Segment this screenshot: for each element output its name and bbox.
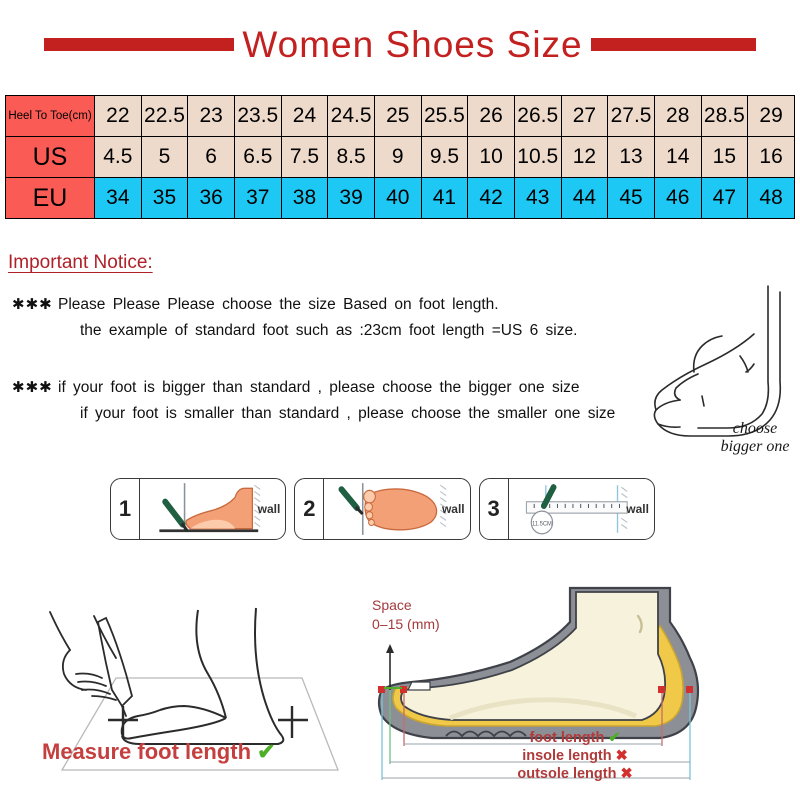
cell-r2-c13: 47 — [701, 178, 748, 219]
notice-paragraph-2: ✱✱✱if your foot is bigger than standard … — [12, 375, 615, 427]
cell-r2-c4: 38 — [281, 178, 328, 219]
choose-bigger-line-2: bigger one — [690, 438, 800, 456]
cell-r1-c2: 6 — [188, 137, 235, 178]
cell-r1-c14: 16 — [748, 137, 795, 178]
cell-r0-c0: 22 — [95, 96, 142, 137]
cell-r2-c10: 44 — [561, 178, 608, 219]
outsole-length-label: outsole length ✖ — [360, 766, 790, 782]
outsole-length-cross-icon: ✖ — [620, 766, 632, 782]
space-label-line-1: Space — [372, 596, 440, 615]
step-number-2: 2 — [295, 479, 324, 539]
cell-r0-c5: 24.5 — [328, 96, 375, 137]
table-row: Heel To Toe(cm)2222.52323.52424.52525.52… — [6, 96, 795, 137]
table-row: EU343536373839404142434445464748 — [6, 178, 795, 219]
cell-r0-c11: 27.5 — [608, 96, 655, 137]
cell-r1-c4: 7.5 — [281, 137, 328, 178]
step-art-1: wall — [140, 479, 285, 539]
cell-r2-c3: 37 — [234, 178, 281, 219]
cell-r2-c5: 39 — [328, 178, 375, 219]
step-panel-3: 3 11.5CM — [479, 478, 655, 540]
notice-lines-2: if your foot is bigger than standard , p… — [58, 375, 615, 427]
cell-r1-c10: 12 — [561, 137, 608, 178]
step-2-wall-label: wall — [442, 502, 465, 516]
cell-r0-c12: 28 — [654, 96, 701, 137]
cell-r0-c4: 24 — [281, 96, 328, 137]
step-1-wall-label: wall — [258, 502, 281, 516]
space-label-line-2: 0–15 (mm) — [372, 615, 440, 634]
foot-length-label: foot length ✔ — [360, 730, 790, 746]
notice-2-line-2: if your foot is smaller than standard , … — [58, 405, 615, 422]
cell-r2-c9: 43 — [514, 178, 561, 219]
notice-1-line-1: Please Please Please choose the size Bas… — [58, 296, 499, 313]
measure-foot-length-caption: Measure foot length ✔ — [42, 739, 276, 765]
cell-r0-c7: 25.5 — [421, 96, 468, 137]
cell-r1-c11: 13 — [608, 137, 655, 178]
cell-r1-c6: 9 — [374, 137, 421, 178]
step-number-3: 3 — [480, 479, 509, 539]
cell-r1-c8: 10 — [468, 137, 515, 178]
cell-r2-c12: 46 — [654, 178, 701, 219]
step-number-1: 1 — [111, 479, 140, 539]
notice-stars-2: ✱✱✱ — [12, 375, 58, 401]
cell-r1-c3: 6.5 — [234, 137, 281, 178]
title-rule-right — [591, 38, 756, 51]
measure-caption-text: Measure foot length — [42, 739, 251, 764]
table-row: US4.5566.57.58.599.51010.51213141516 — [6, 137, 795, 178]
choose-bigger-line-1: choose — [690, 420, 800, 438]
cell-r2-c1: 35 — [141, 178, 188, 219]
cell-r0-c2: 23 — [188, 96, 235, 137]
step-art-2: wall — [324, 479, 469, 539]
cell-r0-c3: 23.5 — [234, 96, 281, 137]
row-label-0: Heel To Toe(cm) — [6, 96, 95, 137]
cell-r0-c6: 25 — [374, 96, 421, 137]
step-panel-1: 1 wall — [110, 478, 286, 540]
cell-r2-c6: 40 — [374, 178, 421, 219]
foot-length-tick-icon: ✔ — [608, 730, 620, 746]
cell-r2-c2: 36 — [188, 178, 235, 219]
measure-caption-tick-icon: ✔ — [257, 739, 275, 764]
shoe-cross-section-panel: Space 0–15 (mm) foot length ✔ insole len… — [360, 578, 790, 796]
foot-length-text: foot length — [529, 730, 604, 746]
insole-length-cross-icon: ✖ — [616, 748, 628, 764]
cell-r1-c12: 14 — [654, 137, 701, 178]
measurement-steps-strip: 1 wall 2 — [110, 478, 655, 540]
cell-r1-c7: 9.5 — [421, 137, 468, 178]
cell-r2-c14: 48 — [748, 178, 795, 219]
space-measurement-label: Space 0–15 (mm) — [372, 596, 440, 634]
cell-r0-c10: 27 — [561, 96, 608, 137]
cell-r0-c14: 29 — [748, 96, 795, 137]
cell-r2-c8: 42 — [468, 178, 515, 219]
outsole-length-text: outsole length — [517, 766, 616, 782]
cell-r1-c0: 4.5 — [95, 137, 142, 178]
row-label-2: EU — [6, 178, 95, 219]
cell-r1-c9: 10.5 — [514, 137, 561, 178]
cell-r2-c0: 34 — [95, 178, 142, 219]
step-3-wall-label: wall — [626, 502, 649, 516]
notice-paragraph-1: ✱✱✱Please Please Please choose the size … — [12, 292, 577, 344]
measure-foot-length-panel: Measure foot length ✔ — [20, 578, 365, 793]
notice-2-line-1: if your foot is bigger than standard , p… — [58, 379, 580, 396]
page-title: Women Shoes Size — [234, 26, 590, 63]
cell-r0-c1: 22.5 — [141, 96, 188, 137]
notice-lines-1: Please Please Please choose the size Bas… — [58, 292, 577, 344]
row-label-1: US — [6, 137, 95, 178]
title-rule-left — [44, 38, 234, 51]
cell-r2-c7: 41 — [421, 178, 468, 219]
important-notice-heading: Important Notice: — [8, 252, 153, 274]
insole-length-text: insole length — [522, 748, 611, 764]
cell-r2-c11: 45 — [608, 178, 655, 219]
cell-r1-c1: 5 — [141, 137, 188, 178]
ruler-badge-text: 11.5CM — [532, 521, 552, 527]
notice-1-line-2: the example of standard foot such as :23… — [58, 322, 577, 339]
step-panel-2: 2 wall — [294, 478, 470, 540]
insole-length-label: insole length ✖ — [360, 748, 790, 764]
cell-r0-c8: 26 — [468, 96, 515, 137]
cell-r0-c9: 26.5 — [514, 96, 561, 137]
cell-r1-c13: 15 — [701, 137, 748, 178]
step-art-3: 11.5CM wall — [509, 479, 654, 539]
cell-r1-c5: 8.5 — [328, 137, 375, 178]
choose-bigger-one-caption: choose bigger one — [690, 420, 800, 456]
size-conversion-table: Heel To Toe(cm)2222.52323.52424.52525.52… — [5, 95, 795, 219]
page-title-bar: Women Shoes Size — [0, 20, 800, 68]
notice-stars-1: ✱✱✱ — [12, 292, 58, 318]
cell-r0-c13: 28.5 — [701, 96, 748, 137]
